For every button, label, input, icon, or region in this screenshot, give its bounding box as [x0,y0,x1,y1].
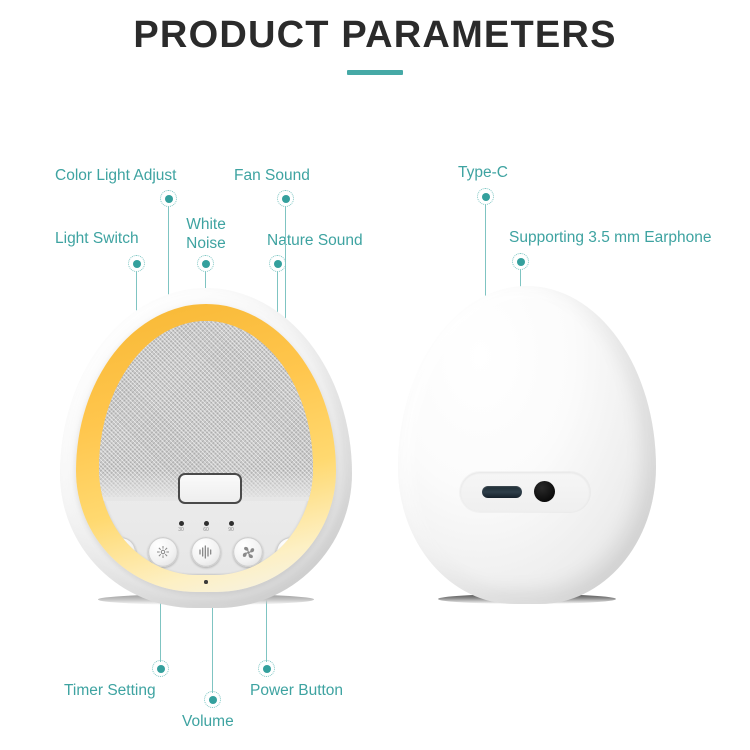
marker-power-button [258,660,275,677]
callout-label-fan-sound: Fan Sound [234,166,310,185]
callout-label-light-switch: Light Switch [55,229,139,248]
callout-label-nature-sound: Nature Sound [267,231,363,250]
led-90-label: 90 [224,527,238,533]
led-60-dot [204,521,209,526]
callout-label-timer-setting: Timer Setting [64,681,156,700]
marker-type-c [477,188,494,205]
volume-rocker[interactable] [161,574,253,575]
button-row-secondary [109,574,305,575]
marker-fan-sound [277,190,294,207]
port-recess-panel [460,472,590,512]
led-90-dot [229,521,234,526]
usb-c-port[interactable] [482,486,522,498]
callout-label-color-light-adjust: Color Light Adjust [55,166,177,185]
marker-volume [204,691,221,708]
button-row-primary [106,537,306,571]
earphone-jack[interactable] [534,481,555,502]
light-switch-button[interactable] [106,537,136,567]
display-screen [178,473,242,504]
fan-sound-button[interactable] [233,537,263,567]
timer-button[interactable] [109,574,137,575]
marker-earphone [512,253,529,270]
microphone-hole [204,580,208,584]
marker-color-light-adjust [160,190,177,207]
music-note-icon [284,544,299,560]
nature-sound-button[interactable] [276,537,306,567]
flower-light-icon [155,544,171,560]
power-button[interactable] [277,574,305,575]
front-face-panel: 30 60 90 [99,321,313,575]
back-outer-shell [398,286,656,604]
marker-timer-setting [152,660,169,677]
callout-label-type-c: Type-C [458,163,508,182]
led-30-dot [179,521,184,526]
product-front-view: 30 60 90 [60,288,352,608]
callout-label-earphone: Supporting 3.5 mm Earphone [509,228,711,247]
color-light-adjust-button[interactable] [148,537,178,567]
marker-light-switch [128,255,145,272]
timer-led-group: 30 60 90 [161,521,251,537]
marker-white-noise [197,255,214,272]
led-60-label: 60 [199,527,213,533]
product-back-view [398,286,656,612]
white-noise-button[interactable] [191,537,221,567]
callout-label-power-button: Power Button [250,681,343,700]
infographic-canvas: PRODUCT PARAMETERS Color Light Adjust Fa… [0,0,750,750]
lamp-icon [113,544,129,560]
page-title: PRODUCT PARAMETERS [0,14,750,57]
callout-label-white-noise: White Noise [181,215,231,253]
fan-icon [240,544,257,561]
marker-nature-sound [269,255,286,272]
waveform-icon [197,544,215,560]
callout-label-volume: Volume [182,712,234,731]
title-underline-rule [347,70,403,75]
led-30-label: 30 [174,527,188,533]
